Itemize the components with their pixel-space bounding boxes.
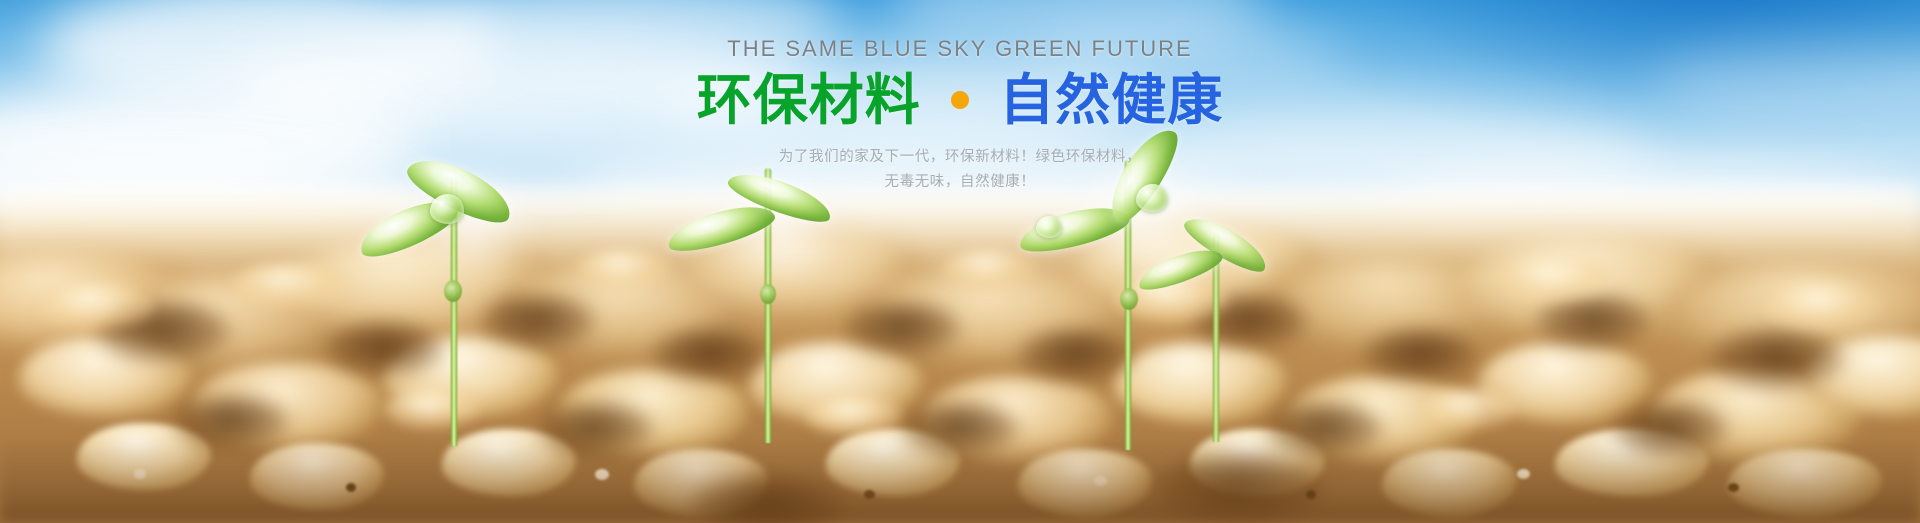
soil-highlight [230, 262, 345, 309]
soil-highlight [1498, 255, 1613, 302]
sprout-middle [716, 168, 846, 443]
sprout-left [408, 176, 538, 446]
soil-shadow [845, 302, 960, 356]
banner-subtitle-line-2: 无毒无味，自然健康！ [0, 170, 1920, 195]
soil-highlight [1421, 389, 1517, 429]
headline-green-part: 环保材料 [697, 69, 921, 131]
sprout-node [760, 284, 776, 304]
sprout-node [444, 280, 462, 302]
sprout-far-right [1176, 232, 1286, 442]
water-droplet [430, 194, 464, 224]
water-droplet [1036, 216, 1062, 238]
soil-highlight [38, 282, 153, 329]
soil-shadow [1709, 329, 1843, 389]
soil-horizon-glow [0, 188, 1920, 262]
sprout-node [1120, 288, 1138, 310]
soil-bottom-shadow [0, 436, 1920, 523]
page-title: 环保材料 自然健康 [0, 68, 1920, 133]
eco-materials-hero-banner: THE SAME BLUE SKY GREEN FUTURE 环保材料 自然健康… [0, 0, 1920, 523]
headline-blue-part: 自然健康 [999, 69, 1223, 131]
banner-subtitle: 为了我们的家及下一代，环保新材料！绿色环保材料， 无毒无味，自然健康！ [0, 145, 1920, 195]
soil-highlight [1766, 282, 1881, 329]
banner-eyebrow-tagline: THE SAME BLUE SKY GREEN FUTURE [0, 36, 1920, 62]
banner-subtitle-line-1: 为了我们的家及下一代，环保新材料！绿色环保材料， [0, 145, 1920, 170]
banner-copy: THE SAME BLUE SKY GREEN FUTURE 环保材料 自然健康… [0, 0, 1920, 195]
soil-shadow [1536, 295, 1651, 349]
soil-ground [0, 188, 1920, 523]
orange-dot-icon [951, 91, 969, 109]
